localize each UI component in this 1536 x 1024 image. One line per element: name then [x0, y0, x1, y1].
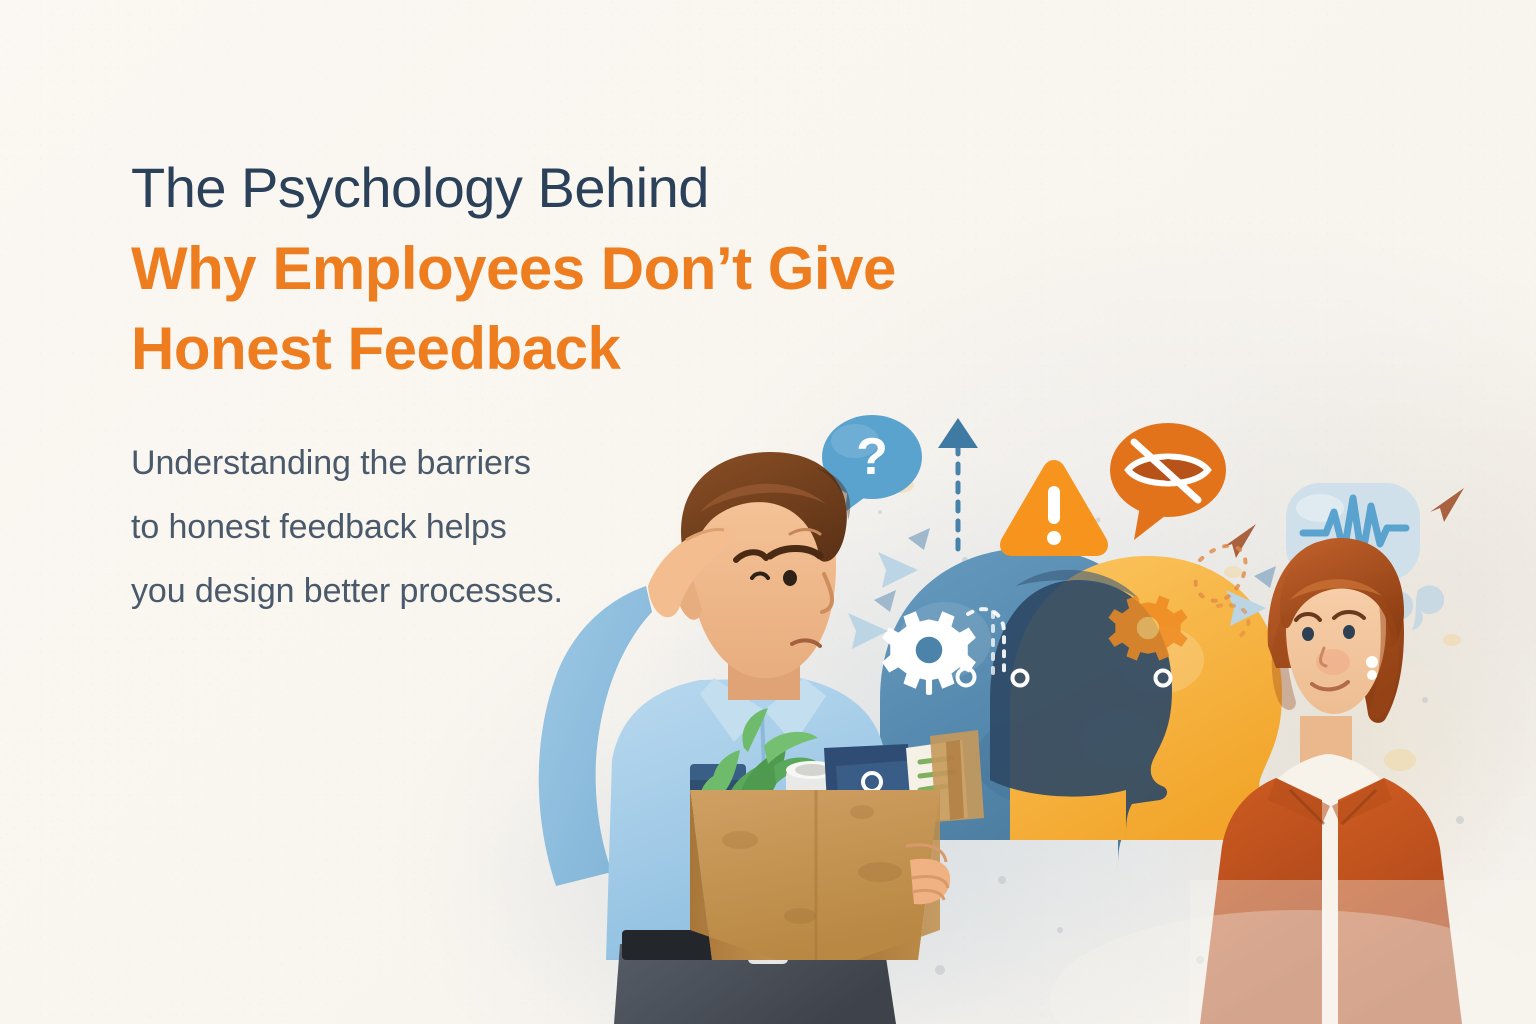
eyebrow-title: The Psychology Behind — [131, 158, 991, 217]
subtitle: Understanding the barriers to honest fee… — [131, 432, 671, 624]
poster-canvas: ? — [0, 0, 1536, 1024]
headline-line-2: Honest Feedback — [131, 309, 991, 388]
headline-line-1: Why Employees Don’t Give — [131, 229, 991, 308]
subtitle-line-3: you design better processes. — [131, 560, 671, 624]
subtitle-line-1: Understanding the barriers — [131, 432, 671, 496]
subtitle-line-2: to honest feedback helps — [131, 496, 671, 560]
page-title: Why Employees Don’t Give Honest Feedback — [131, 229, 991, 387]
text-block: The Psychology Behind Why Employees Don’… — [131, 158, 991, 623]
